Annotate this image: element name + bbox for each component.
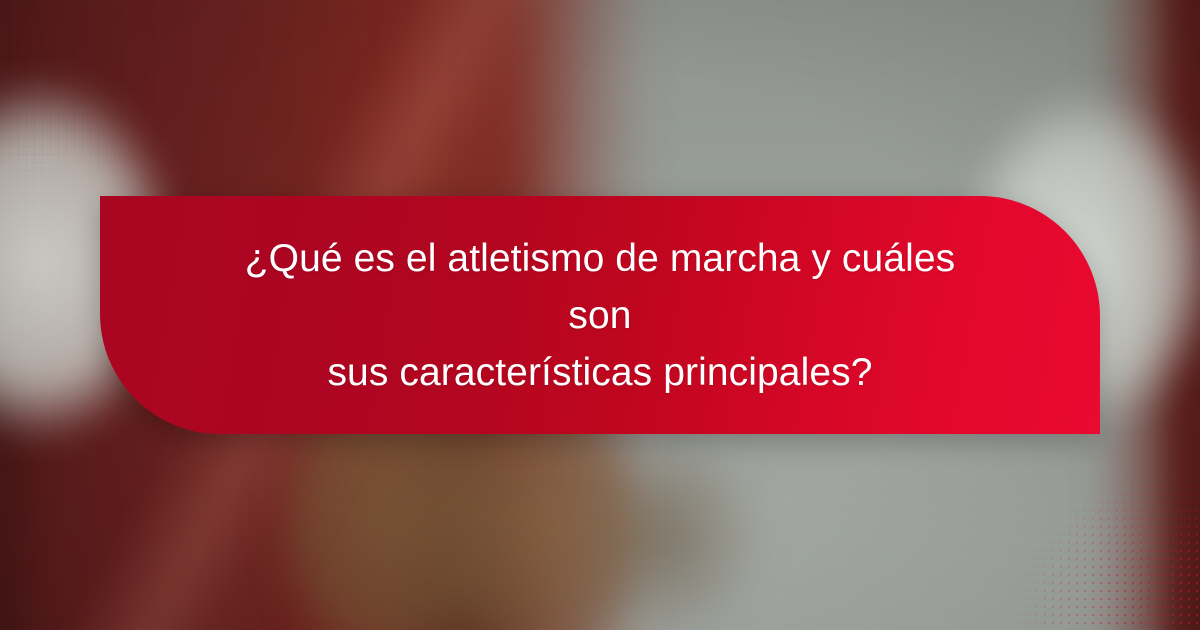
- title-banner: ¿Qué es el atletismo de marcha y cuáles …: [100, 196, 1100, 434]
- page-title-line-2: sus características principales?: [327, 351, 872, 394]
- social-share-card: ¿Qué es el atletismo de marcha y cuáles …: [0, 0, 1200, 630]
- page-title: ¿Qué es el atletismo de marcha y cuáles …: [100, 230, 1100, 401]
- page-title-line-1: ¿Qué es el atletismo de marcha y cuáles …: [245, 237, 956, 337]
